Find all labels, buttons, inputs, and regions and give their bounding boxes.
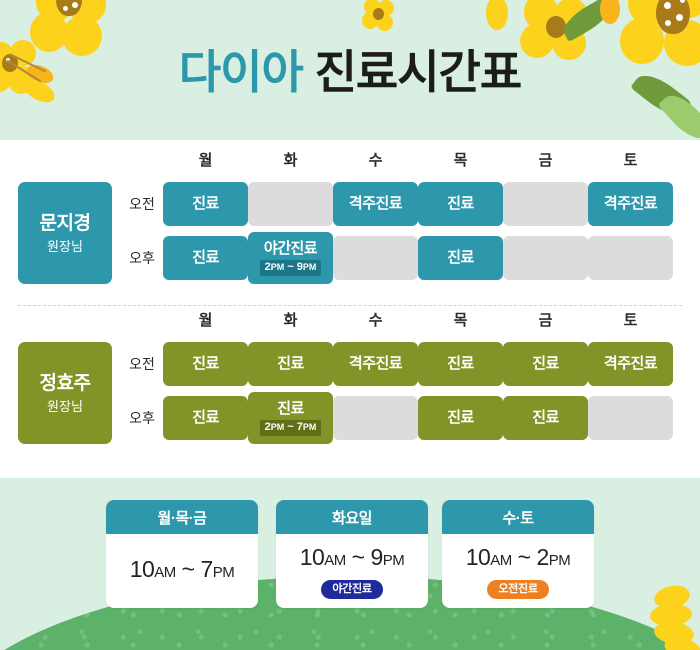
- day-header-thu: 목: [418, 150, 503, 172]
- summary-card-3[interactable]: 수·토 10AM ~ 2PM 오전진료: [442, 500, 594, 608]
- summary-card-hours: 10AM ~ 7PM: [130, 555, 235, 587]
- summary-section: 월·목·금 10AM ~ 7PM 화요일 10AM ~ 9PM: [0, 478, 700, 650]
- period-label-am-2: 오전: [122, 342, 162, 386]
- day-header-row-1: 월 화 수 목 금 토: [163, 150, 683, 176]
- summary-card-hours: 10AM ~ 9PM: [300, 543, 405, 575]
- summary-card-days: 수·토: [442, 500, 594, 534]
- cell-d1-am-fri[interactable]: [503, 182, 588, 226]
- cell-label: 진료: [192, 195, 219, 213]
- cell-d1-am-mon[interactable]: 진료: [163, 182, 248, 226]
- cell-d2-pm-mon[interactable]: 진료: [163, 396, 248, 440]
- schedule-table: 월 화 수 목 금 토 문지경 원장님 오전 오후 진료 격주진료 진: [0, 140, 700, 478]
- petal-stray-far-right: [600, 0, 620, 24]
- cell-d1-am-sat[interactable]: 격주진료: [588, 182, 673, 226]
- summary-card-list: 월·목·금 10AM ~ 7PM 화요일 10AM ~ 9PM: [0, 500, 700, 610]
- header-banner: 다이아 진료시간표: [0, 0, 700, 140]
- hours-start-ampm: AM: [324, 552, 346, 569]
- hours-start: 10: [300, 544, 325, 570]
- cell-label: 진료: [447, 355, 474, 373]
- hours-start-ampm: AM: [490, 552, 512, 569]
- summary-card-body: 10AM ~ 7PM: [106, 534, 258, 608]
- day-header-wed-2: 수: [333, 310, 418, 332]
- hours-end: 7: [201, 556, 213, 582]
- hours-start: 10: [466, 544, 491, 570]
- day-header-sat: 토: [588, 150, 673, 172]
- hours-end: 2: [537, 544, 549, 570]
- cell-d1-pm-thu[interactable]: 진료: [418, 236, 503, 280]
- summary-card-days: 월·목·금: [106, 500, 258, 534]
- period-label-am-1: 오전: [122, 182, 162, 226]
- cell-label: 야간진료: [264, 240, 317, 258]
- doctor-name: 문지경: [40, 212, 91, 236]
- night-care-badge: 야간진료: [321, 580, 382, 599]
- doctor-role: 원장님: [47, 398, 83, 415]
- summary-card-hours: 10AM ~ 2PM: [466, 543, 571, 575]
- day-header-wed: 수: [333, 150, 418, 172]
- cell-label: 진료: [277, 355, 304, 373]
- cell-d2-am-wed[interactable]: 격주진료: [333, 342, 418, 386]
- cell-d1-am-wed[interactable]: 격주진료: [333, 182, 418, 226]
- cell-d2-pm-fri[interactable]: 진료: [503, 396, 588, 440]
- hours-end-ampm: PM: [213, 564, 235, 581]
- cell-label: 진료: [532, 355, 559, 373]
- day-header-thu-2: 목: [418, 310, 503, 332]
- cell-label: 진료: [532, 409, 559, 427]
- day-header-row-2: 월 화 수 목 금 토: [163, 310, 683, 336]
- hours-end-ampm: PM: [549, 552, 571, 569]
- summary-card-days: 화요일: [276, 500, 428, 534]
- cell-label: 격주진료: [604, 355, 657, 373]
- cell-d1-pm-tue[interactable]: 야간진료 2PM ~ 9PM: [248, 232, 333, 284]
- summary-card-2[interactable]: 화요일 10AM ~ 9PM 야간진료: [276, 500, 428, 608]
- schedule-poster: 다이아 진료시간표 월 화 수 목 금 토 문지경 원장님 오전 오후 진료: [0, 0, 700, 650]
- cell-d2-am-tue[interactable]: 진료: [248, 342, 333, 386]
- doctor-block-1: 월 화 수 목 금 토 문지경 원장님 오전 오후 진료 격주진료 진: [0, 150, 700, 298]
- brand-name: 다이아: [179, 46, 303, 98]
- doctor-block-2: 월 화 수 목 금 토 정효주 원장님 오전 오후 진료 진료 격주진료: [0, 310, 700, 458]
- cell-label: 격주진료: [349, 355, 402, 373]
- cell-d1-am-tue[interactable]: [248, 182, 333, 226]
- cell-label: 격주진료: [604, 195, 657, 213]
- hours-separator: ~: [182, 556, 195, 582]
- cell-label: 진료: [447, 249, 474, 267]
- cell-d2-am-mon[interactable]: 진료: [163, 342, 248, 386]
- time-start-ampm: PM: [271, 262, 285, 272]
- hours-separator: ~: [518, 544, 531, 570]
- cell-label: 진료: [192, 355, 219, 373]
- hours-end-ampm: PM: [383, 552, 405, 569]
- morning-care-badge: 오전진료: [487, 580, 548, 599]
- day-header-mon: 월: [163, 150, 248, 172]
- day-header-mon-2: 월: [163, 310, 248, 332]
- cell-time-range: 2PM ~ 7PM: [260, 420, 322, 436]
- time-end-ampm: PM: [303, 262, 317, 272]
- period-label-pm-2: 오후: [122, 396, 162, 440]
- period-label-pm-1: 오후: [122, 236, 162, 280]
- cell-d2-am-thu[interactable]: 진료: [418, 342, 503, 386]
- day-header-tue-2: 화: [248, 310, 333, 332]
- cell-d1-pm-mon[interactable]: 진료: [163, 236, 248, 280]
- day-header-tue: 화: [248, 150, 333, 172]
- hours-start: 10: [130, 556, 155, 582]
- summary-card-1[interactable]: 월·목·금 10AM ~ 7PM: [106, 500, 258, 608]
- cell-d1-pm-fri[interactable]: [503, 236, 588, 280]
- hours-start-ampm: AM: [154, 564, 176, 581]
- doctor-name: 정효주: [40, 372, 91, 396]
- petal-stray-right: [486, 0, 508, 30]
- cell-time-range: 2PM ~ 9PM: [260, 260, 322, 276]
- section-divider: [18, 305, 682, 306]
- time-start-ampm: PM: [271, 422, 285, 432]
- cell-label: 진료: [277, 400, 304, 418]
- cell-label: 진료: [192, 249, 219, 267]
- doctor-name-card-2: 정효주 원장님: [18, 342, 112, 444]
- hours-end: 9: [371, 544, 383, 570]
- cell-d2-pm-wed[interactable]: [333, 396, 418, 440]
- summary-card-body: 10AM ~ 9PM 야간진료: [276, 534, 428, 608]
- cell-d1-pm-sat[interactable]: [588, 236, 673, 280]
- day-header-sat-2: 토: [588, 310, 673, 332]
- time-end-ampm: PM: [303, 422, 317, 432]
- day-header-fri: 금: [503, 150, 588, 172]
- cell-label: 진료: [447, 195, 474, 213]
- cell-d1-am-thu[interactable]: 진료: [418, 182, 503, 226]
- cell-d2-am-fri[interactable]: 진료: [503, 342, 588, 386]
- cell-d1-pm-wed[interactable]: [333, 236, 418, 280]
- cell-label: 진료: [447, 409, 474, 427]
- hours-separator: ~: [352, 544, 365, 570]
- title-text: 진료시간표: [315, 46, 522, 98]
- summary-card-body: 10AM ~ 2PM 오전진료: [442, 534, 594, 608]
- day-header-fri-2: 금: [503, 310, 588, 332]
- cell-d2-am-sat[interactable]: 격주진료: [588, 342, 673, 386]
- cell-d2-pm-thu[interactable]: 진료: [418, 396, 503, 440]
- doctor-role: 원장님: [47, 238, 83, 255]
- cell-d2-pm-sat[interactable]: [588, 396, 673, 440]
- cell-label: 진료: [192, 409, 219, 427]
- page-title: 다이아 진료시간표: [0, 46, 700, 98]
- cell-d2-pm-tue[interactable]: 진료 2PM ~ 7PM: [248, 392, 333, 444]
- doctor-name-card-1: 문지경 원장님: [18, 182, 112, 284]
- cell-label: 격주진료: [349, 195, 402, 213]
